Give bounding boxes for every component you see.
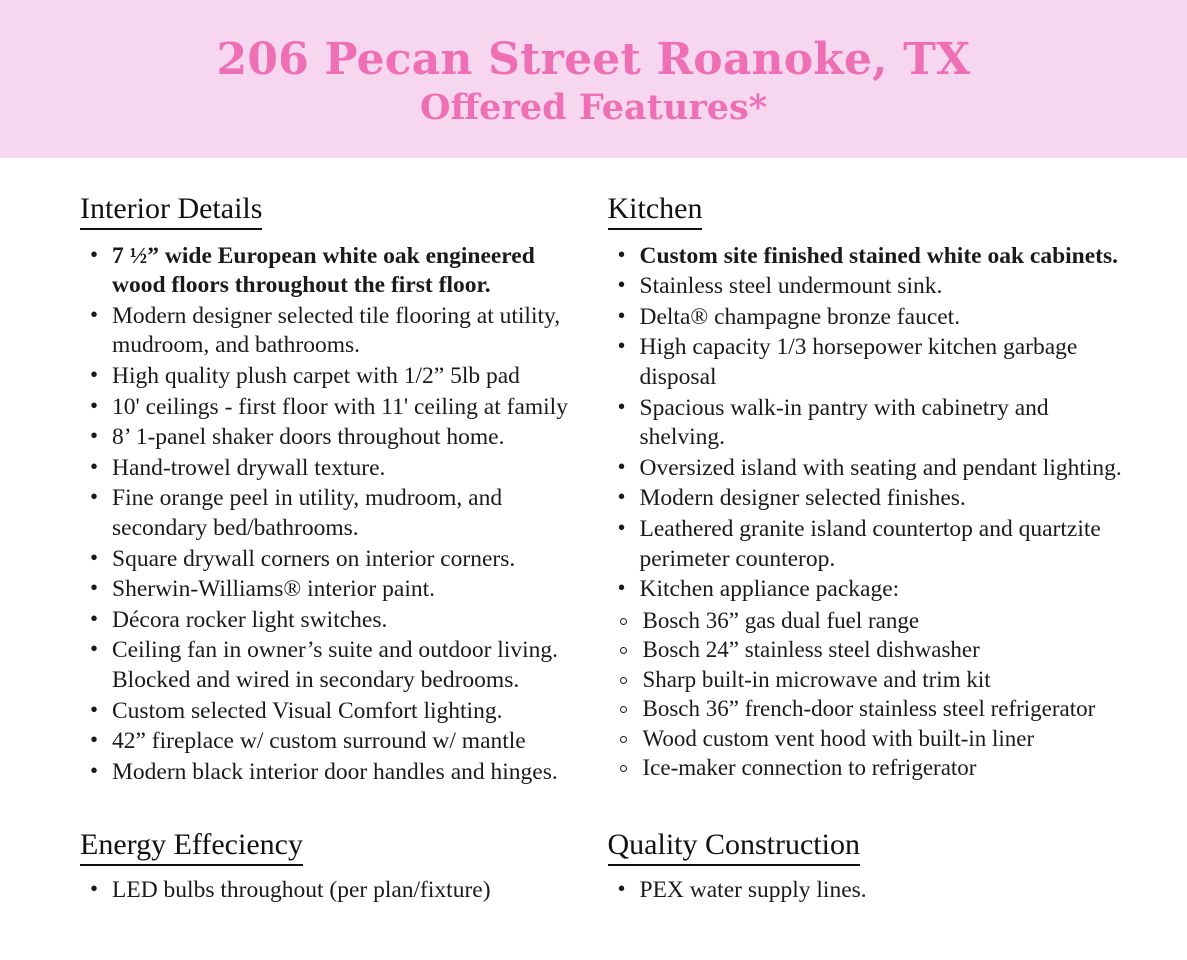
list-item: Custom site finished stained white oak c… — [608, 242, 1132, 272]
sub-list-item: Ice-maker connection to refrigerator — [608, 753, 1132, 782]
page-header-banner: 206 Pecan Street Roanoke, TX Offered Fea… — [0, 0, 1187, 158]
list-item: High quality plush carpet with 1/2” 5lb … — [80, 362, 570, 392]
list-item: Stainless steel undermount sink. — [608, 272, 1132, 302]
section-heading-interior-details: Interior Details — [80, 192, 262, 230]
document-content: Interior Details 7 ½” wide European whit… — [0, 158, 1187, 907]
top-columns: Interior Details 7 ½” wide European whit… — [46, 192, 1141, 788]
list-item: Square drywall corners on interior corne… — [80, 545, 570, 575]
list-interior-details: 7 ½” wide European white oak engineered … — [80, 242, 570, 788]
list-kitchen: Custom site finished stained white oak c… — [608, 242, 1132, 605]
list-item: High capacity 1/3 horsepower kitchen gar… — [608, 333, 1132, 392]
list-item: Fine orange peel in utility, mudroom, an… — [80, 484, 570, 543]
list-item: 7 ½” wide European white oak engineered … — [80, 242, 570, 301]
section-heading-energy-efficiency: Energy Effeciency — [80, 828, 303, 866]
list-item: Leathered granite island countertop and … — [608, 515, 1132, 574]
list-item: Sherwin-Williams® interior paint. — [80, 575, 570, 605]
sub-list-item: Bosch 36” french-door stainless steel re… — [608, 694, 1132, 723]
column-quality-construction: Quality Construction PEX water supply li… — [594, 828, 1142, 906]
list-item: Spacious walk-in pantry with cabinetry a… — [608, 394, 1132, 453]
list-item: 10' ceilings - first floor with 11' ceil… — [80, 393, 570, 423]
page-subtitle: Offered Features* — [420, 89, 767, 128]
page-title: 206 Pecan Street Roanoke, TX — [217, 37, 971, 83]
list-item: 8’ 1-panel shaker doors throughout home. — [80, 423, 570, 453]
list-item: Modern black interior door handles and h… — [80, 758, 570, 788]
list-item: Oversized island with seating and pendan… — [608, 454, 1132, 484]
sub-list-item: Wood custom vent hood with built-in line… — [608, 724, 1132, 753]
list-quality-construction: PEX water supply lines. — [608, 876, 1132, 906]
list-item: Ceiling fan in owner’s suite and outdoor… — [80, 636, 570, 695]
sub-list-item: Bosch 36” gas dual fuel range — [608, 606, 1132, 635]
list-item: Modern designer selected tile flooring a… — [80, 302, 570, 361]
list-item: Décora rocker light switches. — [80, 606, 570, 636]
list-item: Modern designer selected finishes. — [608, 484, 1132, 514]
list-item: Kitchen appliance package: — [608, 575, 1132, 605]
list-item: Custom selected Visual Comfort lighting. — [80, 697, 570, 727]
list-item: Hand-trowel drywall texture. — [80, 454, 570, 484]
list-energy-efficiency: LED bulbs throughout (per plan/fixture) — [80, 876, 570, 906]
list-kitchen-appliance-package: Bosch 36” gas dual fuel rangeBosch 24” s… — [608, 606, 1132, 783]
section-heading-kitchen: Kitchen — [608, 192, 703, 230]
sub-list-item: Sharp built-in microwave and trim kit — [608, 665, 1132, 694]
list-item: PEX water supply lines. — [608, 876, 1132, 906]
section-heading-quality-construction: Quality Construction — [608, 828, 860, 866]
list-item: LED bulbs throughout (per plan/fixture) — [80, 876, 570, 906]
list-item: 42” fireplace w/ custom surround w/ mant… — [80, 727, 570, 757]
column-kitchen: Kitchen Custom site finished stained whi… — [594, 192, 1142, 782]
bottom-columns: Energy Effeciency LED bulbs throughout (… — [46, 828, 1141, 906]
sub-list-item: Bosch 24” stainless steel dishwasher — [608, 635, 1132, 664]
column-interior-details: Interior Details 7 ½” wide European whit… — [46, 192, 594, 788]
column-energy-efficiency: Energy Effeciency LED bulbs throughout (… — [46, 828, 594, 906]
list-item: Delta® champagne bronze faucet. — [608, 303, 1132, 333]
